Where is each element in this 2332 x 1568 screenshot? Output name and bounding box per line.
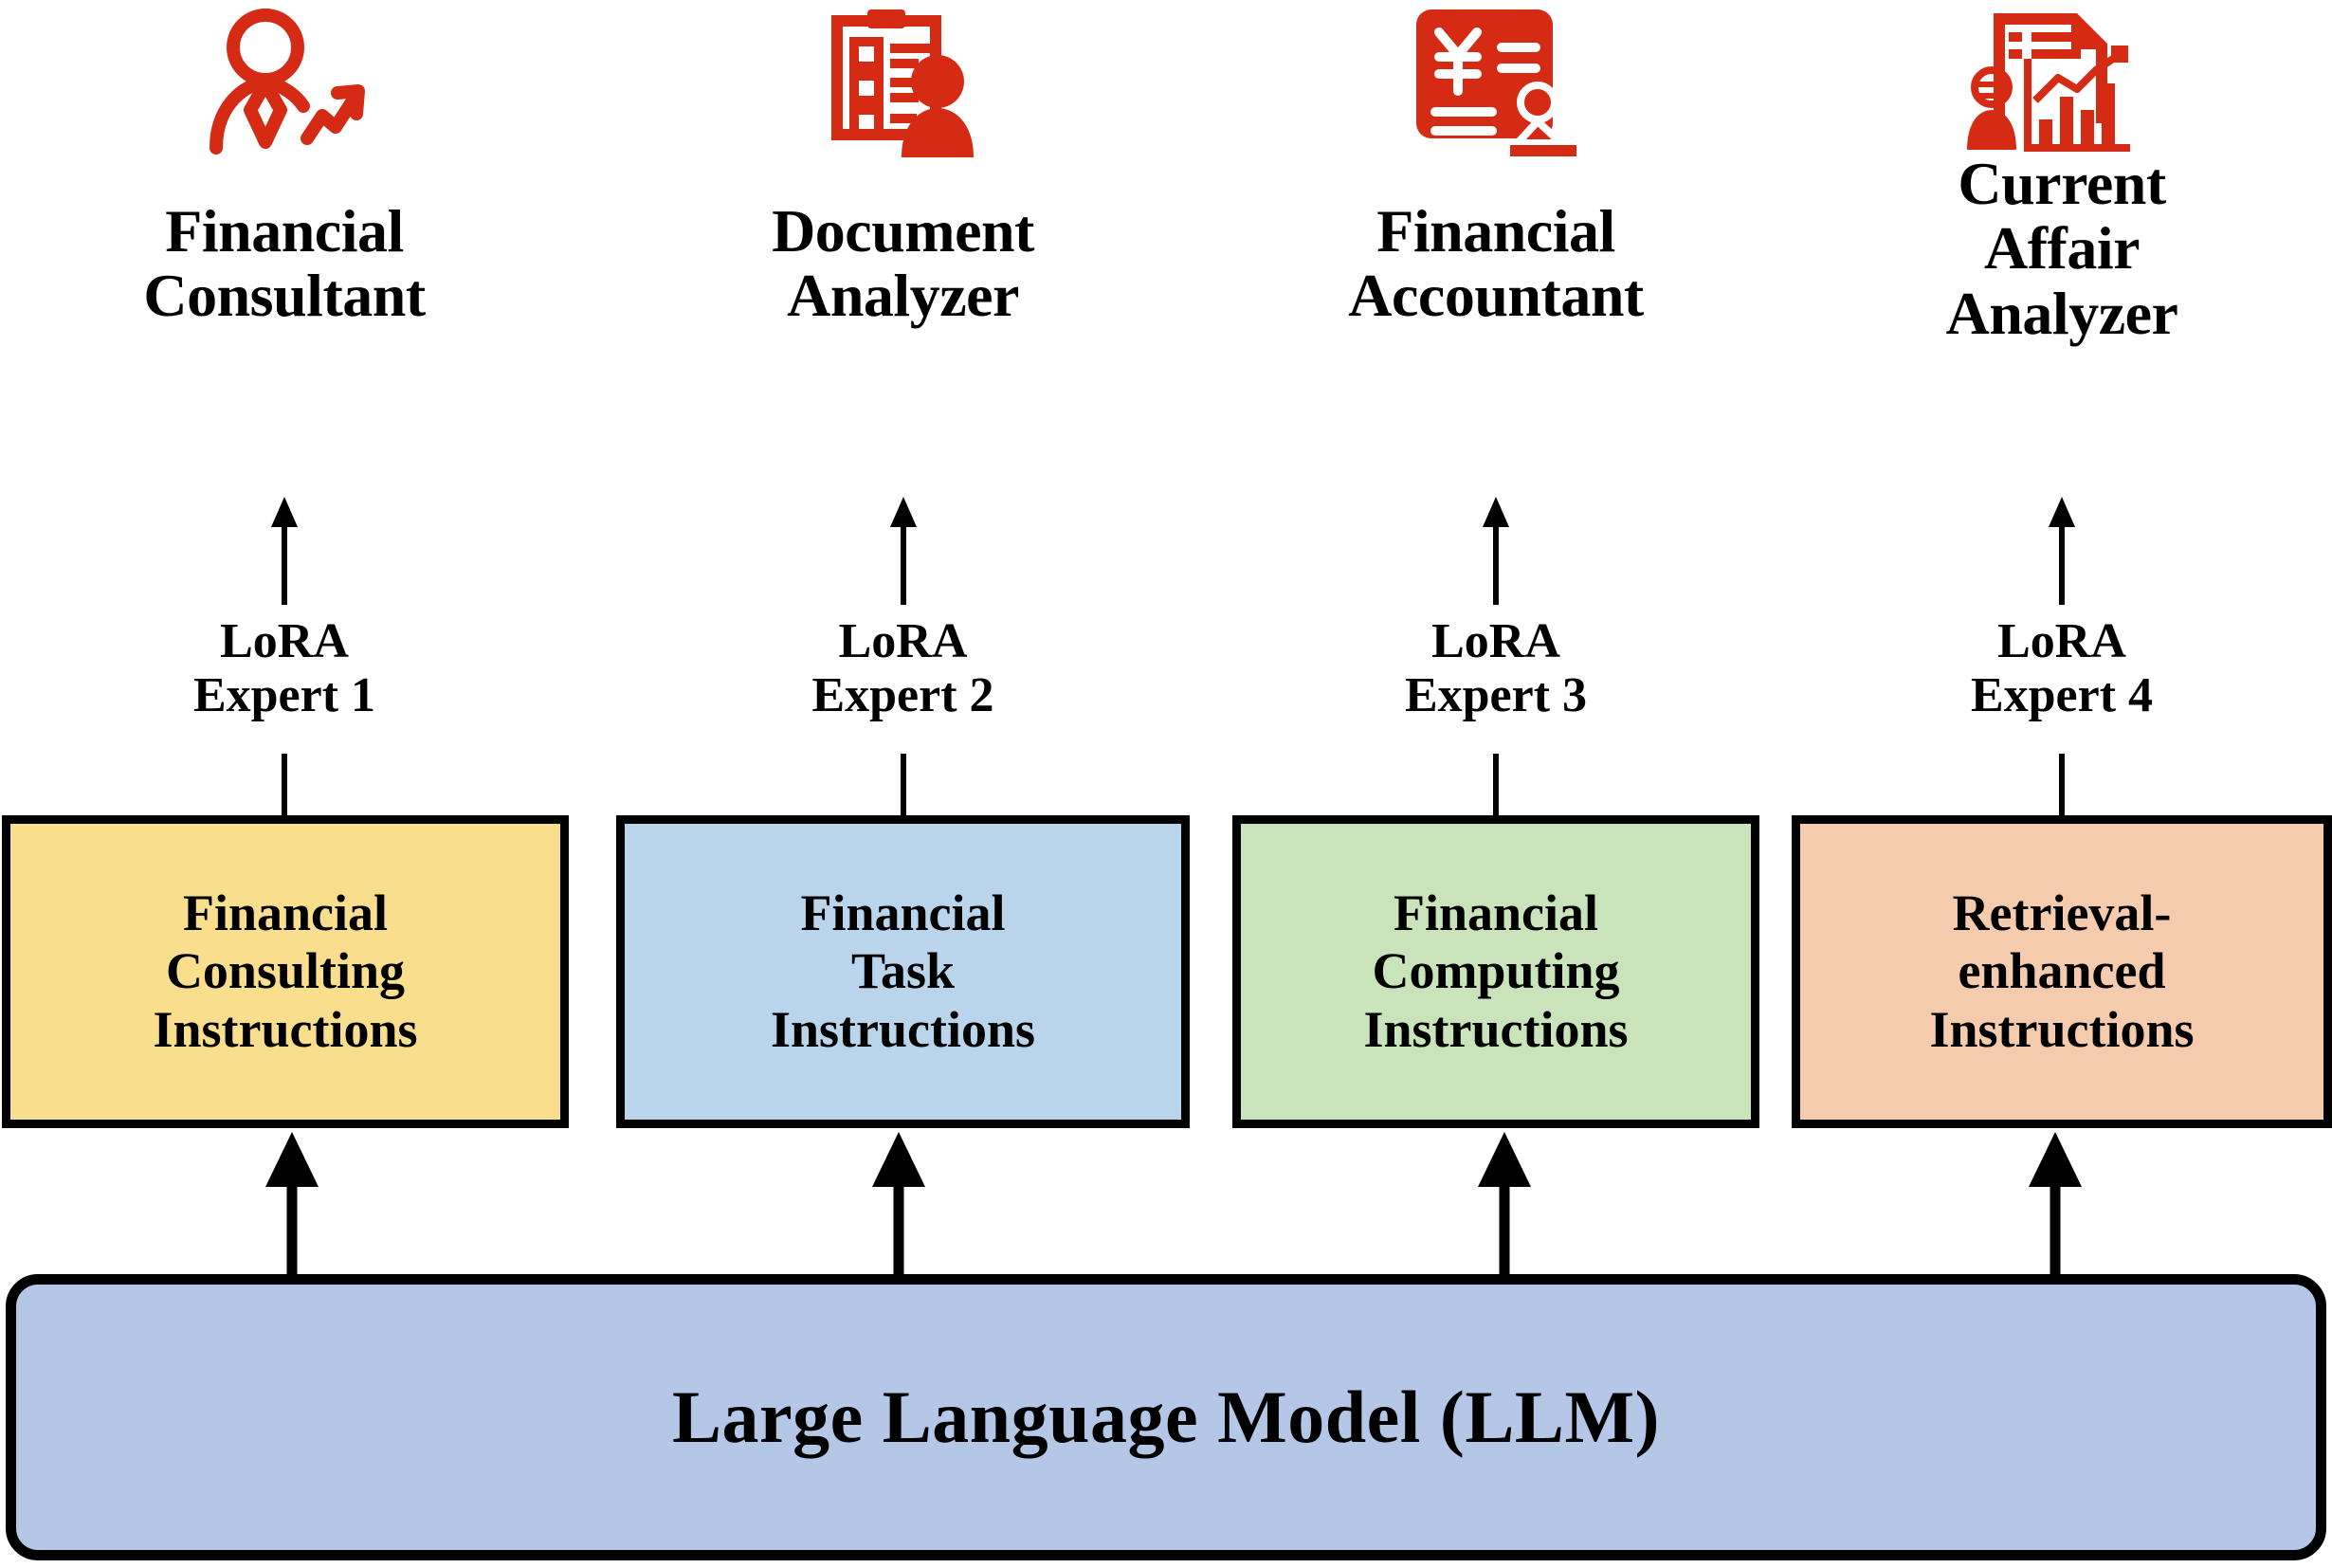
lora-arrow-head-4 [2038,493,2086,607]
instruction-box-3[interactable]: Financial Computing Instructions [1232,815,1759,1128]
lora-arrow-tail-3 [1472,754,1520,820]
agent-label-1: Financial Consultant [0,199,569,329]
lora-label-4: LoRA Expert 4 [1792,614,2332,722]
llm-label: Large Language Model (LLM) [672,1375,1660,1460]
agent-column-3: Financial Accountant LoRA Expert 3 [1232,0,1759,815]
current-affair-analyzer-icon-wrap [1792,6,2332,157]
llm-to-box-arrow-4 [2021,1128,2089,1280]
lora-label-2: LoRA Expert 2 [616,614,1190,722]
current-affair-analyzer-icon [1967,6,2157,157]
lora-arrow-head-2 [880,493,927,607]
lora-arrow-tail-4 [2038,754,2086,820]
agent-column-1: Financial Consultant LoRA Expert 1 [0,0,569,815]
lora-arrow-head-3 [1472,493,1520,607]
agent-column-2: Document Analyzer LoRA Expert 2 [616,0,1190,815]
llm-to-box-arrow-1 [258,1128,326,1280]
lora-label-3: LoRA Expert 3 [1232,614,1759,722]
agent-column-4: Current Affair Analyzer LoRA Expert 4 [1792,0,2332,815]
agent-label-3: Financial Accountant [1232,199,1759,329]
financial-consultant-icon [190,6,379,157]
document-analyzer-icon-wrap [616,6,1190,157]
llm-to-box-arrow-3 [1470,1128,1539,1280]
document-analyzer-icon [818,6,989,157]
lora-label-1: LoRA Expert 1 [0,614,569,722]
instruction-box-2[interactable]: Financial Task Instructions [616,815,1190,1128]
large-language-model-box[interactable]: Large Language Model (LLM) [6,1274,2326,1560]
diagram-canvas: Financial Consultant LoRA Expert 1 Finan… [0,0,2332,1568]
agent-label-4: Current Affair Analyzer [1792,152,2332,346]
financial-accountant-icon [1401,6,1591,157]
instruction-box-4[interactable]: Retrieval- enhanced Instructions [1792,815,2332,1128]
llm-to-box-arrow-2 [865,1128,933,1280]
financial-accountant-icon-wrap [1232,6,1759,157]
agent-label-2: Document Analyzer [616,199,1190,329]
lora-arrow-tail-1 [261,754,308,820]
financial-consultant-icon-wrap [0,6,569,157]
instruction-box-1[interactable]: Financial Consulting Instructions [2,815,569,1128]
lora-arrow-head-1 [261,493,308,607]
lora-arrow-tail-2 [880,754,927,820]
